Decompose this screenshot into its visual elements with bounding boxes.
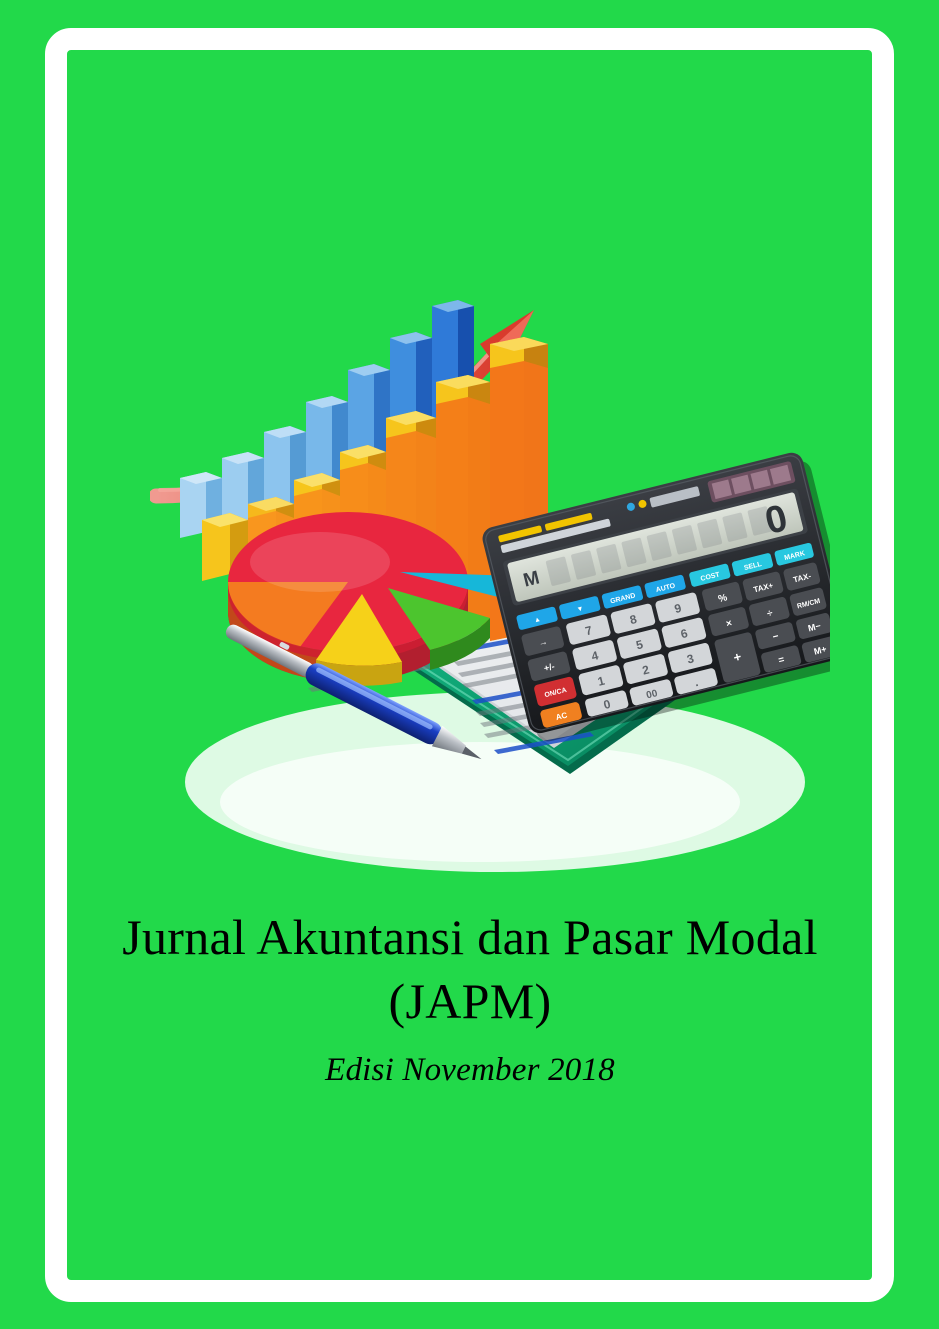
journal-edition-subtitle: Edisi November 2018	[70, 1047, 870, 1093]
cover-title-block: Jurnal Akuntansi dan Pasar Modal (JAPM) …	[70, 905, 870, 1093]
financial-illustration: M 0 ▲ ▼ GRAND AUTO COST	[150, 282, 830, 882]
journal-title-line-1: Jurnal Akuntansi dan Pasar Modal	[70, 905, 870, 969]
journal-title-line-2: (JAPM)	[70, 969, 870, 1033]
journal-cover-page: M 0 ▲ ▼ GRAND AUTO COST	[0, 0, 939, 1329]
